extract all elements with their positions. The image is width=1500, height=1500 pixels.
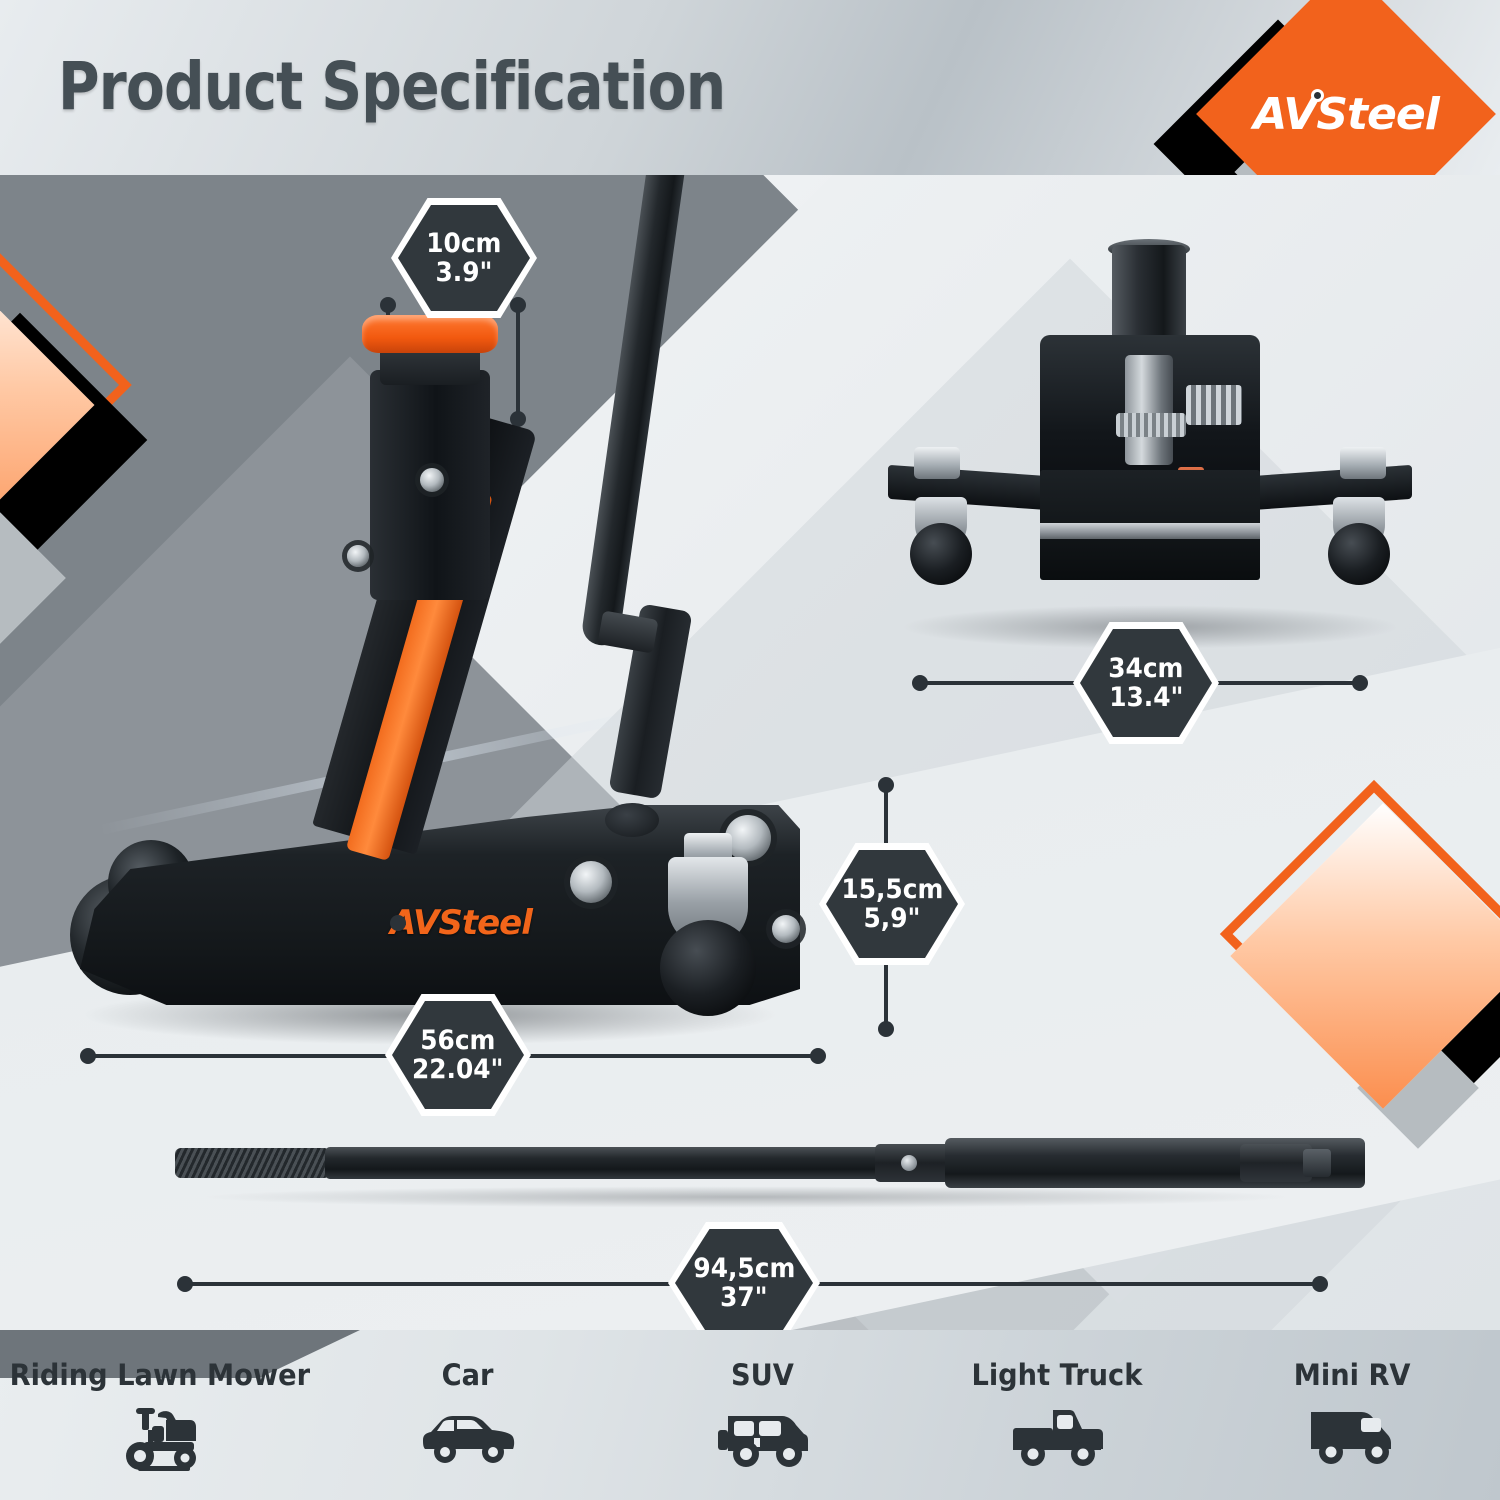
product-stage: AVSteel: [0, 175, 1500, 1330]
vehicle-label: Riding Lawn Mower: [10, 1358, 310, 1392]
dim-handle-dot-left: [177, 1276, 193, 1292]
dim-badge-imperial: 13.4": [1109, 684, 1183, 711]
brand-prefix: AV: [1253, 89, 1316, 140]
front-caster-wheel: [660, 920, 756, 1016]
dim-badge-metric: 56cm: [420, 1027, 495, 1054]
jack-saddle-pad: [362, 315, 498, 353]
brand-wordmark: AVSteel: [1253, 89, 1439, 140]
dim-badge-metric: 94,5cm: [693, 1255, 795, 1282]
handle-locking-pin: [901, 1155, 917, 1171]
car-icon: [417, 1404, 517, 1466]
jack-logo-suffix: Steel: [438, 903, 532, 943]
jack-body-recess: [605, 803, 659, 837]
dim-badge-imperial: 37": [720, 1284, 768, 1311]
vehicle-item-light-truck: Light Truck: [910, 1330, 1205, 1470]
floor-jack-front-view: [880, 235, 1420, 655]
jack-bolt-icon: [347, 545, 369, 567]
jack-bolt-icon: [420, 468, 444, 492]
mini-rv-icon: [1303, 1404, 1401, 1466]
front-caster-left: [910, 523, 972, 585]
light-truck-icon: [1007, 1404, 1107, 1470]
vehicle-compatibility-bar: Riding Lawn Mower C: [0, 1330, 1500, 1500]
vehicle-item-car: Car: [320, 1330, 615, 1466]
dim-height-dot-top: [878, 777, 894, 793]
jack-bolt-icon: [570, 861, 612, 903]
suv-icon: [714, 1404, 810, 1470]
front-nut-left-icon: [914, 447, 960, 479]
dim-badge-metric: 10cm: [426, 230, 501, 257]
handle-knurled-grip: [175, 1148, 330, 1178]
front-nut-right-icon: [1340, 447, 1386, 479]
page-title: Product Specification: [58, 48, 725, 125]
jack-logo-circle-icon: [390, 915, 406, 931]
handle-bar-shadow: [195, 1186, 1295, 1208]
front-hydraulic-cylinder: [1125, 355, 1173, 465]
jack-handle-bar: [175, 1130, 1320, 1192]
vehicle-label: Mini RV: [1294, 1358, 1411, 1392]
vehicle-item-mini-rv: Mini RV: [1205, 1330, 1500, 1466]
vehicle-label: Light Truck: [972, 1358, 1143, 1392]
dim-badge-metric: 34cm: [1108, 655, 1183, 682]
jack-handle-upper: [580, 175, 701, 648]
handle-tube-section-1: [325, 1147, 885, 1179]
vehicle-label: SUV: [731, 1358, 794, 1392]
vehicle-item-suv: SUV: [615, 1330, 910, 1470]
dim-badge-imperial: 22.04": [412, 1056, 504, 1083]
dim-badge-imperial: 3.9": [436, 259, 493, 286]
front-return-spring: [1186, 385, 1242, 425]
dim-height-dot-bottom: [878, 1021, 894, 1037]
jack-body-brand-logo: AVSteel: [390, 900, 620, 946]
dim-badge-imperial: 5,9": [864, 905, 921, 932]
front-chrome-strip: [1040, 523, 1260, 539]
front-caster-right: [1328, 523, 1390, 585]
brand-circle-icon: [1311, 89, 1324, 102]
dim-base-dot-right: [1352, 675, 1368, 691]
dim-base-dot-left: [912, 675, 928, 691]
handle-end-ferrule: [1240, 1144, 1312, 1182]
dim-badge-metric: 15,5cm: [841, 876, 943, 903]
riding-lawn-mower-icon: [114, 1404, 206, 1474]
handle-tip: [1303, 1149, 1331, 1177]
vehicle-label: Car: [441, 1358, 493, 1392]
brand-suffix: Steel: [1316, 89, 1439, 140]
front-gear-detail: [1116, 413, 1186, 437]
dim-handle-dot-right: [1312, 1276, 1328, 1292]
product-specification-page: Product Specification AVSteel: [0, 0, 1500, 1500]
jack-bolt-icon: [772, 915, 800, 943]
vehicle-item-riding-lawn-mower: Riding Lawn Mower: [0, 1330, 320, 1474]
